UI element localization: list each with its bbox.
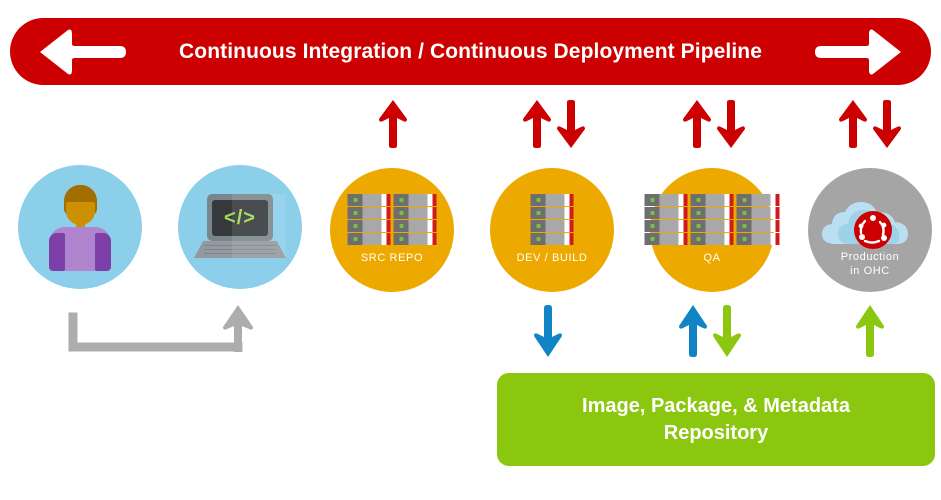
server-rack-icon bbox=[645, 194, 780, 245]
repository-label-line2: Repository bbox=[582, 420, 850, 447]
arrow-up-repo-to-production bbox=[855, 305, 885, 357]
node-label-dev-build: DEV / BUILD bbox=[490, 252, 614, 264]
node-developer[interactable] bbox=[18, 165, 142, 289]
server-rack-icon bbox=[531, 194, 574, 245]
laptop-code-icon: </> bbox=[194, 194, 286, 260]
repository-box[interactable]: Image, Package, & Metadata Repository bbox=[497, 373, 935, 466]
node-src-repo[interactable]: SRC REPO bbox=[330, 168, 454, 292]
node-label-production-line2: in OHC bbox=[808, 264, 932, 278]
node-label-production: Production in OHC bbox=[808, 250, 932, 278]
node-production[interactable]: Production in OHC bbox=[808, 168, 932, 292]
arrow-down-production bbox=[872, 100, 902, 148]
node-qa[interactable]: QA bbox=[650, 168, 774, 292]
pipeline-banner: Continuous Integration / Continuous Depl… bbox=[10, 18, 931, 85]
developer-person-icon bbox=[41, 185, 119, 269]
arrow-up-src-repo bbox=[378, 100, 408, 148]
arrow-up-production bbox=[838, 100, 868, 148]
diagram-canvas: Continuous Integration / Continuous Depl… bbox=[0, 0, 941, 500]
repository-label: Image, Package, & Metadata Repository bbox=[582, 393, 850, 447]
repository-label-line1: Image, Package, & Metadata bbox=[582, 393, 850, 420]
arrow-right-icon bbox=[813, 28, 903, 76]
arrow-down-qa-to-repo bbox=[712, 305, 742, 357]
arrow-up-dev-build bbox=[522, 100, 552, 148]
node-label-production-line1: Production bbox=[808, 250, 932, 264]
server-rack-icon bbox=[348, 194, 437, 245]
feedback-connector-arrow bbox=[60, 305, 260, 360]
pipeline-title: Continuous Integration / Continuous Depl… bbox=[179, 40, 762, 64]
arrow-up-qa bbox=[682, 100, 712, 148]
node-laptop[interactable]: </> bbox=[178, 165, 302, 289]
arrow-down-dev-to-repo bbox=[533, 305, 563, 357]
arrow-left-icon bbox=[38, 28, 128, 76]
node-label-src-repo: SRC REPO bbox=[330, 252, 454, 264]
arrow-down-qa bbox=[716, 100, 746, 148]
node-label-qa: QA bbox=[650, 252, 774, 264]
cloud-openshift-icon bbox=[820, 194, 920, 256]
node-dev-build[interactable]: DEV / BUILD bbox=[490, 168, 614, 292]
arrow-down-dev-build bbox=[556, 100, 586, 148]
arrow-up-repo-to-qa bbox=[678, 305, 708, 357]
